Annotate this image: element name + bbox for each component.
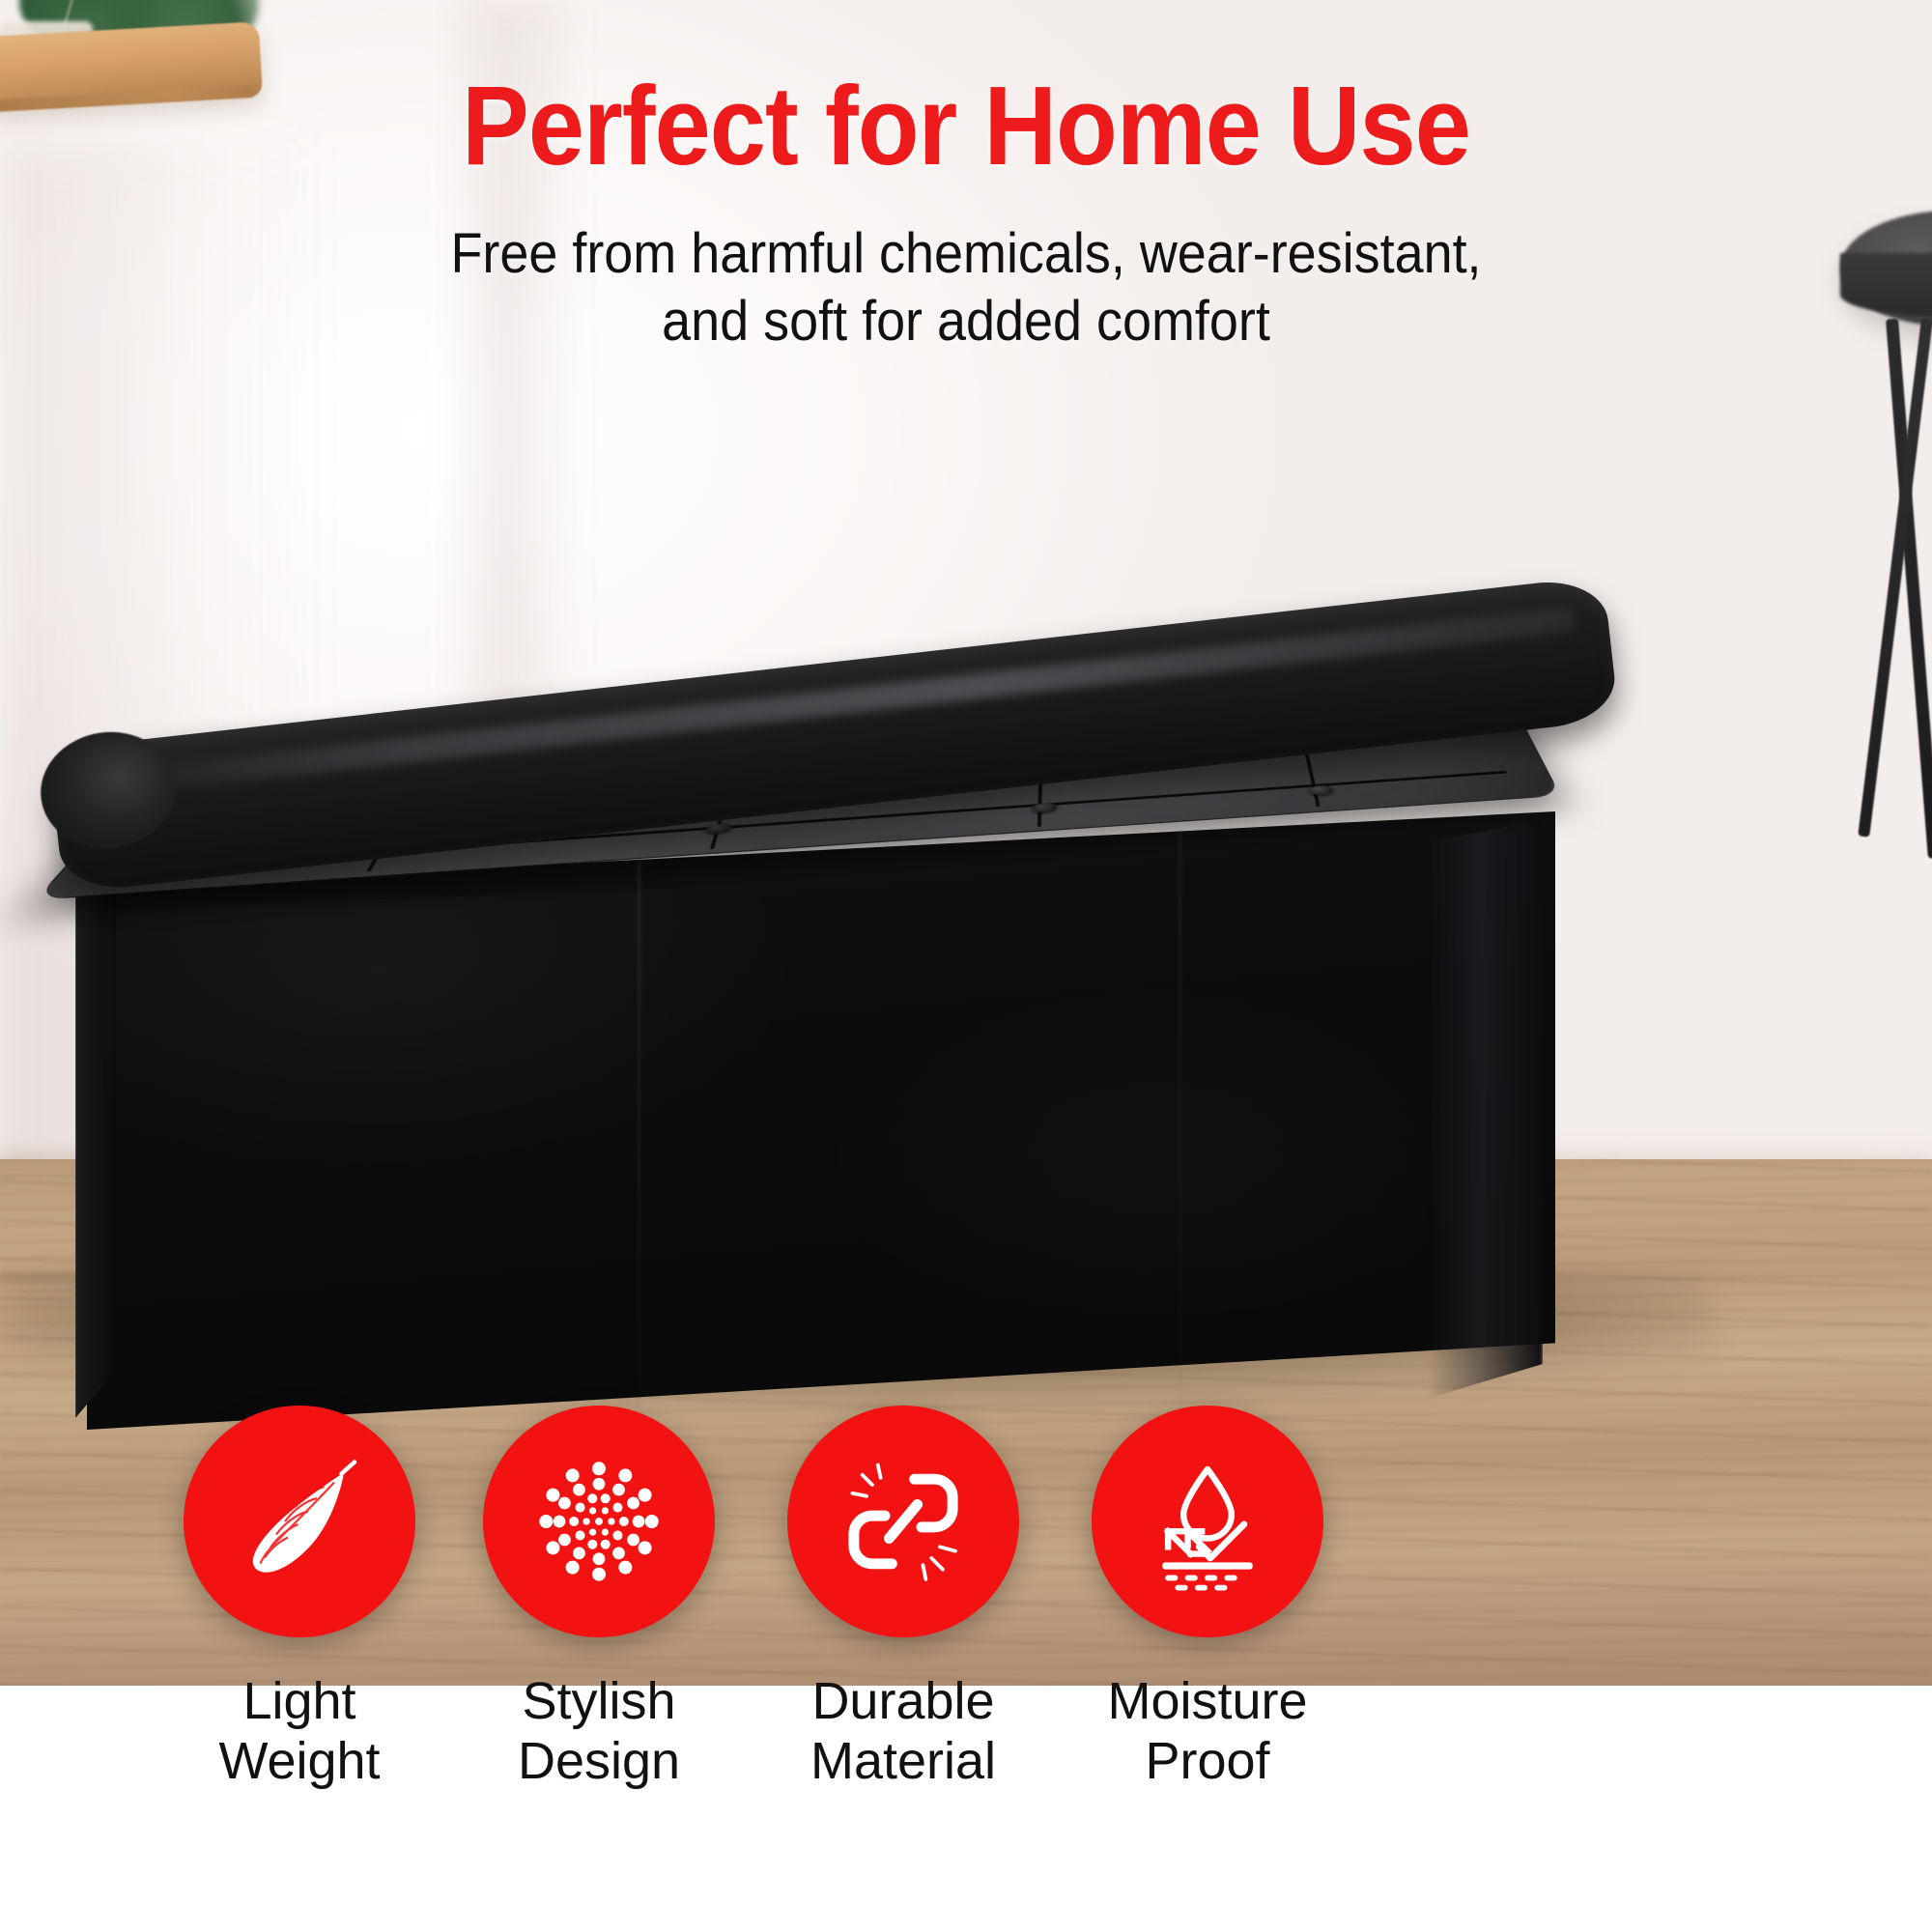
feature-item-moisture-proof[interactable]: Moisture Proof xyxy=(1053,1406,1362,1791)
feature-badge-circle-4 xyxy=(1092,1406,1323,1637)
feature-item-light-weight[interactable]: Light Weight xyxy=(145,1406,454,1791)
headline: Perfect for Home Use xyxy=(97,70,1835,182)
ottoman-right-corner xyxy=(1427,819,1543,1399)
ottoman-body-fold-2 xyxy=(1179,829,1181,1408)
water-repel-icon xyxy=(1137,1451,1278,1592)
ottoman-body-fold-1 xyxy=(638,829,640,1408)
feature-label-3: Durable Material xyxy=(749,1672,1058,1791)
dot-pattern-icon xyxy=(526,1448,672,1595)
feature-badge-circle-1 xyxy=(184,1406,415,1637)
storage-ottoman xyxy=(39,570,1642,1314)
subheadline-line-1: Free from harmful chemicals, wear-resist… xyxy=(68,220,1864,288)
subheadline-line-2: and soft for added comfort xyxy=(68,288,1864,355)
ottoman-lid-front-roll xyxy=(48,576,1620,895)
feature-badges: Light Weight xyxy=(0,1406,1932,1932)
feature-item-stylish-design[interactable]: Stylish Design xyxy=(444,1406,753,1791)
subheadline: Free from harmful chemicals, wear-resist… xyxy=(68,220,1864,355)
feature-item-durable-material[interactable]: Durable Material xyxy=(749,1406,1058,1791)
feature-label-2: Stylish Design xyxy=(444,1672,753,1791)
product-marketing-image: Perfect for Home Use Free from harmful c… xyxy=(0,0,1932,1932)
feature-label-4: Moisture Proof xyxy=(1053,1672,1362,1791)
feather-icon xyxy=(227,1449,372,1594)
ottoman-body-sheen xyxy=(106,860,1459,1362)
ottoman-lid xyxy=(39,570,1642,879)
feature-badge-circle-3 xyxy=(787,1406,1019,1637)
feature-label-1: Light Weight xyxy=(145,1672,454,1791)
chain-link-icon xyxy=(833,1451,974,1592)
feature-badge-circle-2 xyxy=(483,1406,715,1637)
